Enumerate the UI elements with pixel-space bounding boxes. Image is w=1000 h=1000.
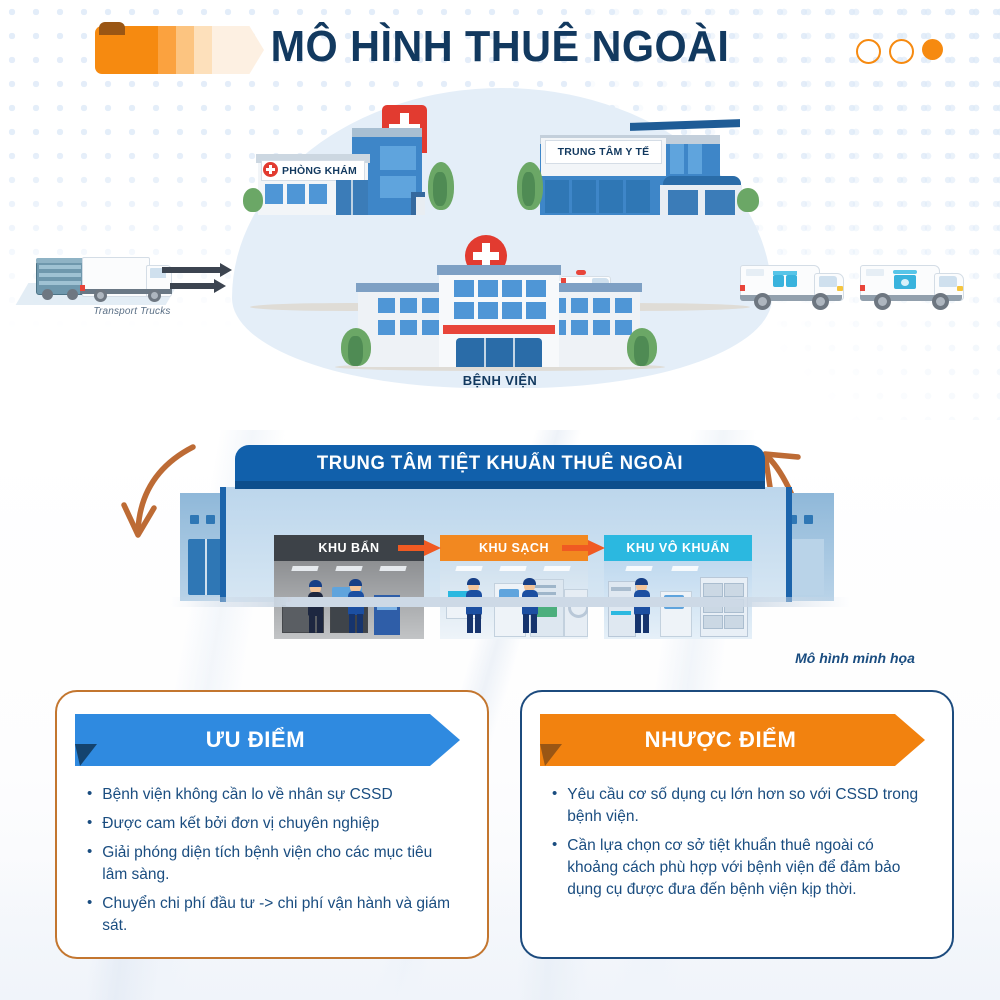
illustration: PHÒNG KHÁM TRUNG TÂM Y TẾ <box>0 80 1000 680</box>
zone-label-dirty: KHU BẨN <box>318 541 379 555</box>
bullet-dot-icon: • <box>87 842 92 862</box>
list-item: • Giải phóng diện tích bệnh viện cho các… <box>87 842 459 886</box>
advantages-card: ƯU ĐIỂM • Bệnh viện không cần lo về nhân… <box>55 690 489 959</box>
zone-label-clean: KHU SẠCH <box>479 541 549 555</box>
list-item-text: Yêu cầu cơ số dụng cụ lớn hơn so với CSS… <box>567 784 924 828</box>
pagination-dot-2 <box>889 39 914 64</box>
list-item-text: Giải phóng diện tích bệnh viện cho các m… <box>102 842 459 886</box>
bullet-dot-icon: • <box>87 813 92 833</box>
zone-arrow-2-icon <box>562 539 606 557</box>
pagination-dot-1 <box>856 39 881 64</box>
delivery-vans <box>740 255 990 335</box>
illustration-caption: Mô hình minh họa <box>740 650 970 666</box>
cssd-title: TRUNG TÂM TIỆT KHUẨN THUÊ NGOÀI <box>243 453 757 475</box>
list-item: • Yêu cầu cơ số dụng cụ lớn hơn so với C… <box>552 784 924 828</box>
facility-body: KHU BẨN KHU SẠCH KHU VÔ KHUẨN <box>220 487 792 602</box>
transport-trucks-label: Transport Trucks <box>72 306 192 317</box>
list-item-text: Được cam kết bởi đơn vị chuyên nghiệp <box>102 813 459 835</box>
list-item-text: Chuyển chi phí đầu tư -> chi phí vận hàn… <box>102 893 459 937</box>
bullet-dot-icon: • <box>552 835 557 855</box>
transport-trucks: Transport Trucks <box>14 245 234 335</box>
advantages-banner: ƯU ĐIỂM <box>75 714 460 766</box>
list-item-text: Cần lựa chọn cơ sở tiệt khuẩn thuê ngoài… <box>567 835 924 901</box>
disadvantages-title: NHƯỢC ĐIỂM <box>540 727 925 753</box>
disadvantages-banner-fold <box>540 744 562 766</box>
zone-bar-sterile: KHU VÔ KHUẨN <box>604 535 752 561</box>
list-item: • Được cam kết bởi đơn vị chuyên nghiệp <box>87 813 459 835</box>
bullet-dot-icon: • <box>87 893 92 913</box>
advantages-banner-fold <box>75 744 97 766</box>
zone-arrow-1-icon <box>398 539 442 557</box>
cssd-facility: KHU BẨN KHU SẠCH KHU VÔ KHUẨN TRUNG TÂM … <box>180 445 820 610</box>
facility-base <box>170 597 850 607</box>
clinic-label: PHÒNG KHÁM <box>282 165 357 177</box>
bullet-dot-icon: • <box>552 784 557 804</box>
page-title: MÔ HÌNH THUÊ NGOÀI <box>30 22 970 72</box>
disadvantages-card: NHƯỢC ĐIỂM • Yêu cầu cơ số dụng cụ lớn h… <box>520 690 954 959</box>
facility-roof-shadow <box>235 481 765 489</box>
list-item-text: Bệnh viện không cần lo về nhân sự CSSD <box>102 784 459 806</box>
advantages-list: • Bệnh viện không cần lo về nhân sự CSSD… <box>87 784 459 944</box>
list-item: • Chuyển chi phí đầu tư -> chi phí vận h… <box>87 893 459 937</box>
list-item: • Cần lựa chọn cơ sở tiệt khuẩn thuê ngo… <box>552 835 924 901</box>
inbound-arrow-icon <box>162 263 234 293</box>
medical-center-label: TRUNG TÂM Y TẾ <box>558 146 650 158</box>
list-item: • Bệnh viện không cần lo về nhân sự CSSD <box>87 784 459 806</box>
advantages-title: ƯU ĐIỂM <box>75 727 460 753</box>
disadvantages-list: • Yêu cầu cơ số dụng cụ lớn hơn so với C… <box>552 784 924 908</box>
zone-label-sterile: KHU VÔ KHUẨN <box>626 541 729 555</box>
pagination-dot-3-active <box>922 39 943 60</box>
hospital-label: BỆNH VIỆN <box>330 373 670 388</box>
bullet-dot-icon: • <box>87 784 92 804</box>
disadvantages-banner: NHƯỢC ĐIỂM <box>540 714 925 766</box>
